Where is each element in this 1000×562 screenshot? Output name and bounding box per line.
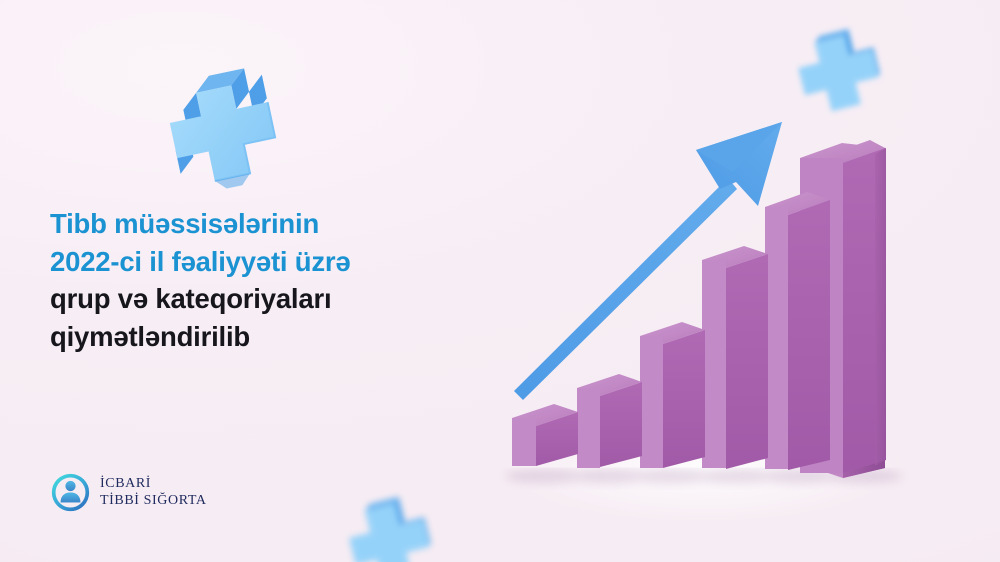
icbari-tibbi-sigorta-emblem-icon — [50, 472, 91, 513]
medical-cross-top-right-icon — [792, 22, 888, 118]
headline-line-2: 2022-ci il fəaliyyəti üzrə — [50, 243, 480, 281]
brand-logo[interactable]: İCBARİ TİBBİ SIĞORTA — [50, 472, 207, 513]
bar-3 — [640, 322, 705, 468]
bar-1 — [512, 404, 578, 466]
bar-2 — [577, 374, 642, 468]
headline-line-4: qiymətləndirilib — [50, 318, 480, 356]
headline-line-1: Tibb müəssisələrinin — [50, 205, 480, 243]
medical-cross-top-left-icon — [158, 66, 288, 190]
bar-5 — [765, 192, 830, 470]
brand-logo-text: İCBARİ TİBBİ SIĞORTA — [100, 476, 207, 509]
medical-cross-bottom-icon — [338, 492, 442, 562]
brand-logo-line-1: İCBARİ — [100, 476, 207, 493]
poster-canvas: Tibb müəssisələrinin 2022-ci il fəaliyyə… — [0, 0, 1000, 562]
bar-chart-illustration — [490, 110, 920, 490]
headline-line-3: qrup və kateqoriyaları — [50, 280, 480, 318]
page-title: Tibb müəssisələrinin 2022-ci il fəaliyyə… — [50, 205, 480, 356]
brand-logo-line-2: TİBBİ SIĞORTA — [100, 493, 207, 510]
bar-4 — [702, 246, 768, 469]
